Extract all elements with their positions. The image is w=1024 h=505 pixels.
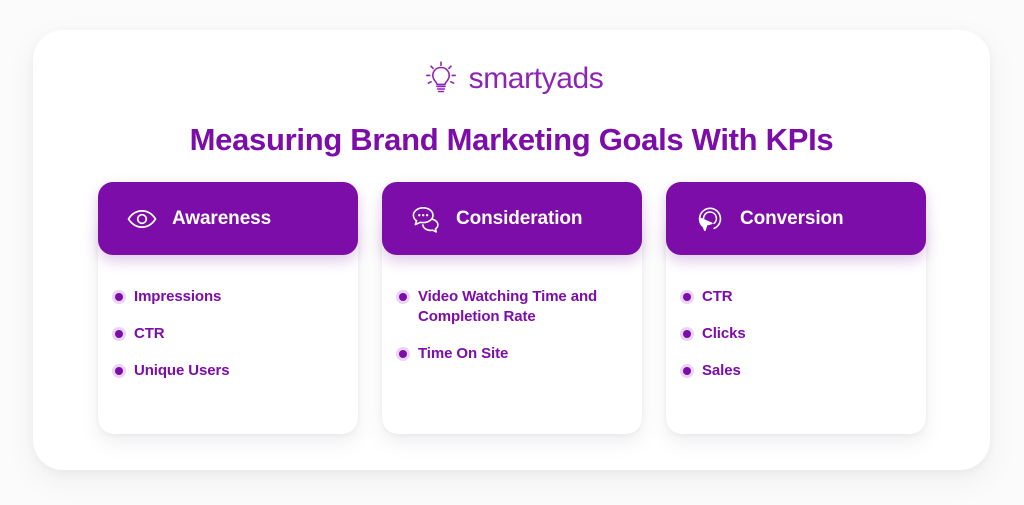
kpi-list-conversion: CTR Clicks Sales (666, 255, 926, 381)
card-title: Conversion (740, 208, 844, 230)
list-item-label: Video Watching Time and Completion Rate (418, 288, 597, 325)
bullet-icon (399, 293, 407, 301)
list-item-label: Unique Users (134, 362, 230, 379)
card-header-conversion[interactable]: Conversion (666, 182, 926, 255)
list-item: Sales (702, 361, 908, 381)
kpi-card-conversion: Conversion CTR Clicks Sales (666, 182, 926, 398)
card-title: Awareness (172, 208, 271, 230)
list-item-label: Clicks (702, 325, 746, 342)
list-item: CTR (134, 324, 340, 344)
speech-bubbles-icon (410, 203, 442, 235)
card-header-consideration[interactable]: Consideration (382, 182, 642, 255)
list-item-label: Time On Site (418, 345, 508, 362)
cursor-click-icon (694, 203, 726, 235)
bullet-icon (115, 330, 123, 338)
list-item-label: CTR (134, 325, 165, 342)
list-item: CTR (702, 287, 908, 307)
lightbulb-icon (420, 58, 462, 100)
kpi-card-consideration: Consideration Video Watching Time and Co… (382, 182, 642, 398)
card-title: Consideration (456, 208, 582, 230)
bullet-icon (115, 293, 123, 301)
bullet-icon (683, 367, 691, 375)
page-title: Measuring Brand Marketing Goals With KPI… (33, 122, 990, 158)
infographic-stage: smartyads Measuring Brand Marketing Goal… (0, 0, 1024, 505)
list-item: Time On Site (418, 344, 612, 364)
kpi-list-awareness: Impressions CTR Unique Users (98, 255, 358, 381)
kpi-card-awareness: Awareness Impressions CTR Unique Users (98, 182, 358, 398)
brand-name: smartyads (469, 64, 604, 94)
list-item: Clicks (702, 324, 908, 344)
card-header-awareness[interactable]: Awareness (98, 182, 358, 255)
bullet-icon (683, 293, 691, 301)
kpi-list-consideration: Video Watching Time and Completion Rate … (382, 255, 642, 364)
kpi-card-group: Awareness Impressions CTR Unique Users (98, 182, 927, 398)
list-item-label: Impressions (134, 288, 221, 305)
bullet-icon (683, 330, 691, 338)
list-item: Unique Users (134, 361, 340, 381)
list-item: Impressions (134, 287, 340, 307)
eye-icon (126, 203, 158, 235)
bullet-icon (115, 367, 123, 375)
list-item-label: Sales (702, 362, 741, 379)
main-panel: smartyads Measuring Brand Marketing Goal… (33, 30, 990, 470)
bullet-icon (399, 350, 407, 358)
brand-logo: smartyads (33, 58, 990, 100)
list-item: Video Watching Time and Completion Rate (418, 287, 612, 327)
list-item-label: CTR (702, 288, 733, 305)
